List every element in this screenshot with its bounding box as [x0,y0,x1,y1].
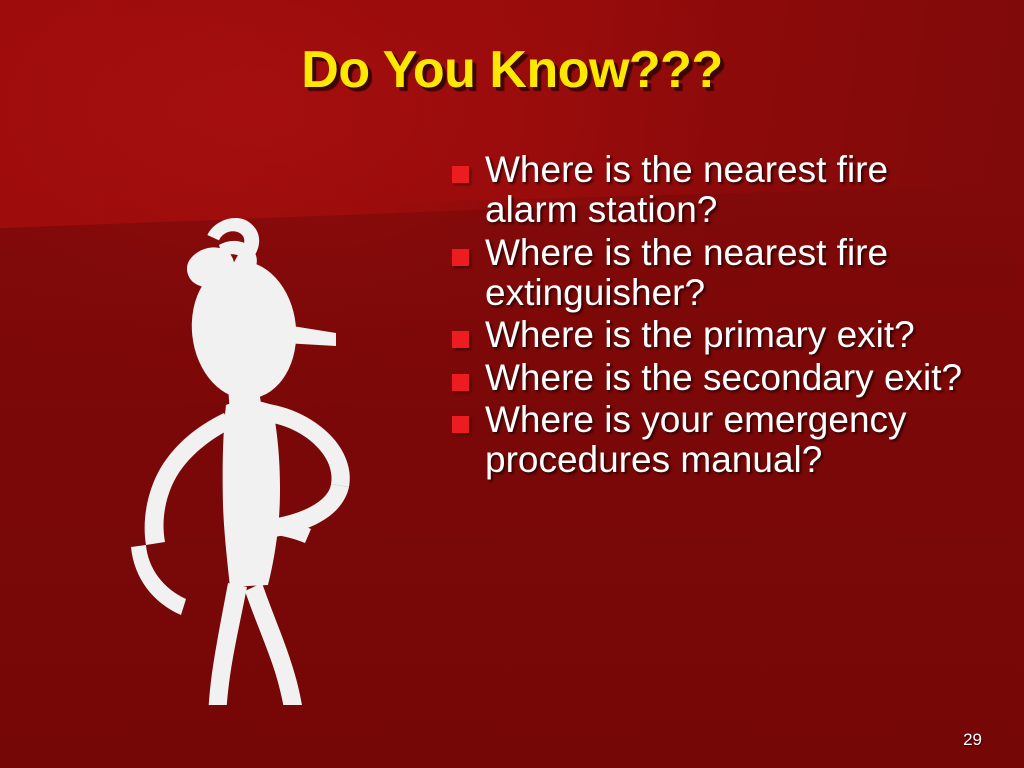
list-item-label: Where is the nearest fire extinguisher? [485,233,972,314]
nose [284,325,336,346]
list-item-label: Where is the secondary exit? [485,358,972,398]
square-bullet-icon [452,374,469,391]
list-item-label: Where is the nearest fire alarm station? [485,150,972,231]
square-bullet-icon [452,331,469,348]
list-item: Where is the nearest fire extinguisher? [452,233,972,314]
right-leg [245,583,305,705]
list-item-label: Where is the primary exit? [485,315,972,355]
presentation-slide: Do You Know??? [0,0,1024,768]
slide-number: 29 [963,730,982,750]
square-bullet-icon [452,249,469,266]
list-item: Where is the secondary exit? [452,358,972,398]
raised-arm [145,413,232,545]
square-bullet-icon [452,416,469,433]
bullet-list: Where is the nearest fire alarm station?… [452,150,972,483]
slide-title: Do You Know??? [0,40,1024,100]
list-item: Where is the nearest fire alarm station? [452,150,972,231]
list-item: Where is the primary exit? [452,315,972,355]
left-leg [208,583,247,705]
list-item-label: Where is your emergency procedures manua… [485,400,972,481]
torso [223,401,280,588]
square-bullet-icon [452,166,469,183]
list-item: Where is your emergency procedures manua… [452,400,972,481]
stick-figure-shape [131,213,350,705]
raised-forearm [131,545,186,615]
puzzled-stick-figure-illustration [62,205,382,705]
